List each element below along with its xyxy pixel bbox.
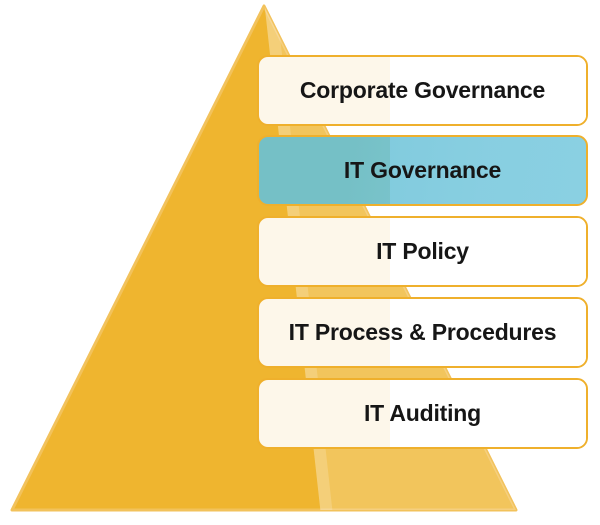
pyramid-level-it-auditing[interactable]: IT Auditing <box>257 378 588 449</box>
pyramid-level-label: Corporate Governance <box>300 79 545 102</box>
pyramid-level-it-process-procedures[interactable]: IT Process & Procedures <box>257 297 588 368</box>
pyramid-level-label: IT Governance <box>344 159 501 182</box>
pyramid-level-label: IT Process & Procedures <box>289 321 557 344</box>
pyramid-level-corporate-governance[interactable]: Corporate Governance <box>257 55 588 126</box>
diagram-canvas: Corporate Governance IT Governance IT Po… <box>0 0 600 525</box>
pyramid-level-label: IT Auditing <box>364 402 481 425</box>
pyramid-level-label: IT Policy <box>376 240 469 263</box>
pyramid-level-it-governance[interactable]: IT Governance <box>257 135 588 206</box>
pyramid-level-it-policy[interactable]: IT Policy <box>257 216 588 287</box>
